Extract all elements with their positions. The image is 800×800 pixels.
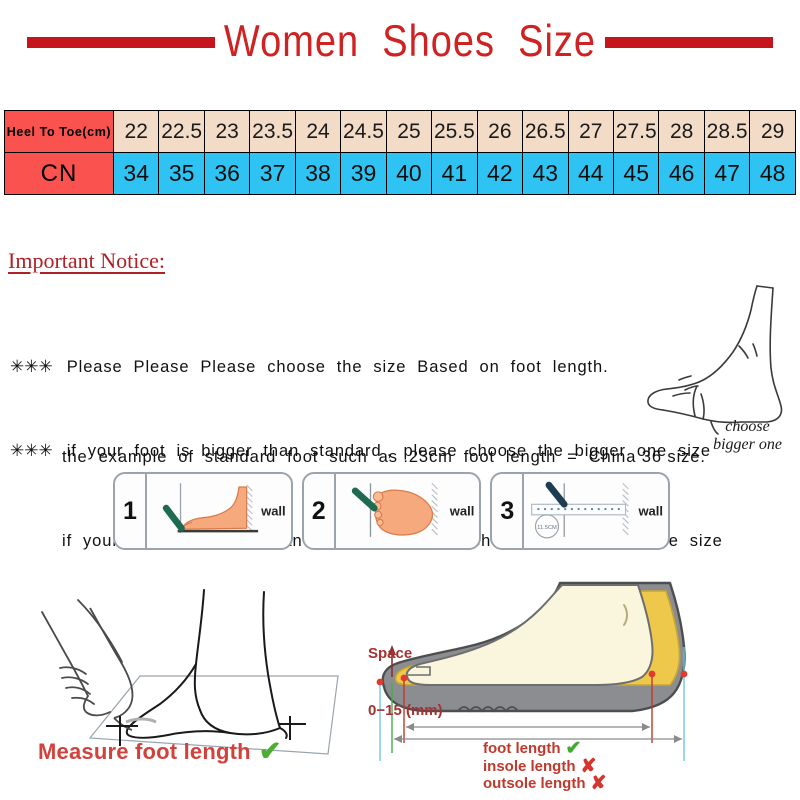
cell-cm: 23 xyxy=(204,111,249,153)
cell-cm: 29 xyxy=(750,111,796,153)
cell-cn: 43 xyxy=(523,153,568,195)
cell-cn: 37 xyxy=(250,153,295,195)
cell-cn: 34 xyxy=(114,153,159,195)
legend-item-foot-length: foot length ✔ xyxy=(483,740,606,758)
cell-cn: 47 xyxy=(704,153,749,195)
check-icon: ✔ xyxy=(565,739,581,758)
step-1-illustration: wall xyxy=(147,474,291,548)
wall-label: wall xyxy=(261,504,286,519)
step-number: 1 xyxy=(115,474,147,548)
cell-cm: 28 xyxy=(659,111,704,153)
cell-cm: 27.5 xyxy=(613,111,658,153)
cell-cm: 25 xyxy=(386,111,431,153)
cell-cn: 38 xyxy=(295,153,340,195)
cell-cm: 27 xyxy=(568,111,613,153)
step-3-illustration: 11.5CM wall xyxy=(524,474,668,548)
legend-item-insole-length: insole length ✘ xyxy=(483,758,606,776)
legend-label: foot length xyxy=(483,740,560,758)
wall-label: wall xyxy=(450,504,475,519)
space-label-line2: 0−15 (mm) xyxy=(368,701,443,720)
cell-cn: 41 xyxy=(432,153,477,195)
shoe-length-legend: foot length ✔ insole length ✘ outsole le… xyxy=(483,740,606,793)
step-number: 2 xyxy=(304,474,336,548)
cell-cn: 42 xyxy=(477,153,522,195)
cell-cm: 26.5 xyxy=(523,111,568,153)
cell-cn: 46 xyxy=(659,153,704,195)
step-panel-3: 3 xyxy=(490,472,670,550)
cell-cm: 25.5 xyxy=(432,111,477,153)
cell-cm: 22 xyxy=(114,111,159,153)
legend-item-outsole-length: outsole length ✘ xyxy=(483,775,606,793)
choose-bigger-line1: choose xyxy=(690,418,800,436)
table-row-cn: CN 34 35 36 37 38 39 40 41 42 43 44 45 4… xyxy=(5,153,796,195)
size-chart-table: Heel To Toe(cm) 22 22.5 23 23.5 24 24.5 … xyxy=(4,110,796,195)
notice-heading: Important Notice: xyxy=(8,248,165,274)
notice-line: if your foot is bigger than standard , p… xyxy=(67,442,711,460)
asterisk-marker: ✳✳✳ xyxy=(10,357,53,376)
cell-cn: 45 xyxy=(613,153,658,195)
cell-cm: 22.5 xyxy=(159,111,204,153)
step-2-illustration: wall xyxy=(336,474,480,548)
cell-cn: 36 xyxy=(204,153,249,195)
step-number: 3 xyxy=(492,474,524,548)
row-header-heel-to-toe: Heel To Toe(cm) xyxy=(5,111,114,153)
table-row-heel-to-toe: Heel To Toe(cm) 22 22.5 23 23.5 24 24.5 … xyxy=(5,111,796,153)
cell-cm: 23.5 xyxy=(250,111,295,153)
cell-cn: 39 xyxy=(341,153,386,195)
wall-label: wall xyxy=(638,504,663,519)
legend-label: outsole length xyxy=(483,775,586,793)
step-panel-2: 2 wall xyxy=(302,472,482,550)
measure-foot-caption: Measure foot length ✔ xyxy=(38,738,282,765)
legend-label: insole length xyxy=(483,758,576,776)
page-title-row: Women Shoes Size xyxy=(0,14,800,70)
cell-cm: 24 xyxy=(295,111,340,153)
ruler-measurement: 11.5CM xyxy=(538,525,558,531)
space-dimension-label: Space 0−15 (mm) xyxy=(368,606,443,739)
choose-bigger-line2: bigger one xyxy=(690,436,800,454)
cell-cn: 44 xyxy=(568,153,613,195)
cell-cm: 28.5 xyxy=(704,111,749,153)
title-rule-right xyxy=(605,37,773,48)
cell-cn: 40 xyxy=(386,153,431,195)
title-rule-left xyxy=(27,37,215,48)
cell-cn: 48 xyxy=(750,153,796,195)
notice-line: Please Please Please choose the size Bas… xyxy=(67,358,609,376)
cell-cm: 24.5 xyxy=(341,111,386,153)
row-header-cn: CN xyxy=(5,153,114,195)
measure-foot-label: Measure foot length xyxy=(38,739,251,765)
step-panel-1: 1 wall xyxy=(113,472,293,550)
page-title: Women Shoes Size xyxy=(215,17,605,68)
check-icon: ✔ xyxy=(259,738,282,765)
space-label-line1: Space xyxy=(368,644,443,663)
measuring-steps: 1 wall 2 xyxy=(113,472,670,550)
asterisk-marker: ✳✳✳ xyxy=(10,441,53,460)
cross-icon: ✘ xyxy=(591,774,607,793)
cell-cn: 35 xyxy=(159,153,204,195)
choose-bigger-caption: choose bigger one xyxy=(690,418,800,454)
cell-cm: 26 xyxy=(477,111,522,153)
